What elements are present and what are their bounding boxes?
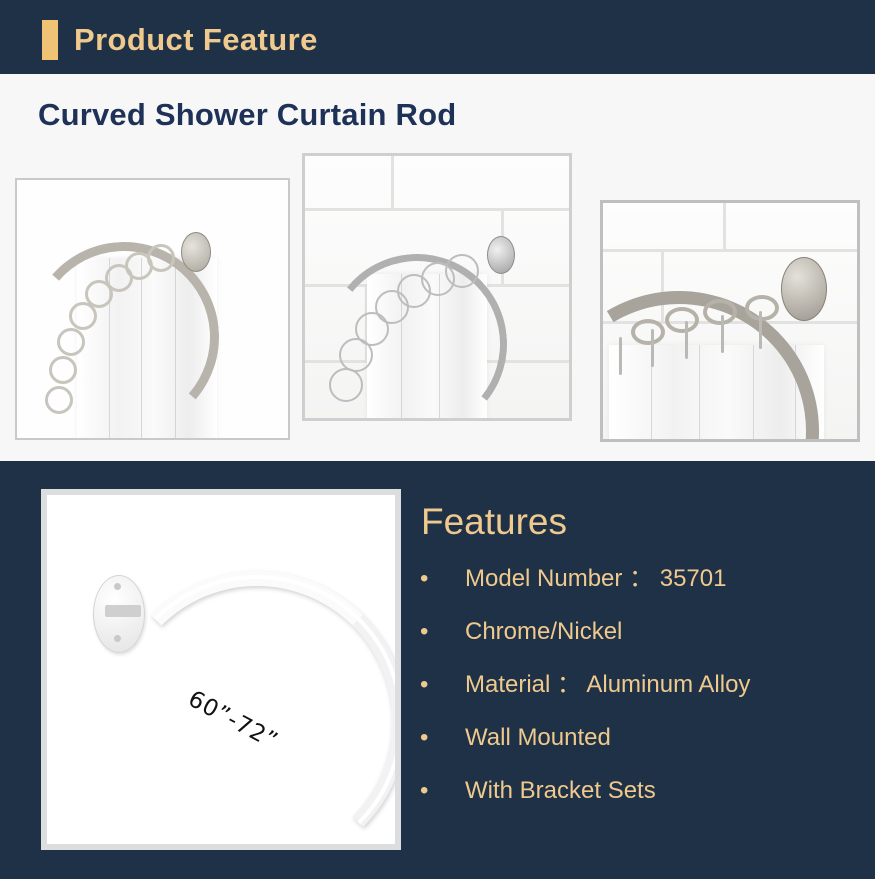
header-title: Product Feature [74, 19, 318, 61]
features-heading: Features [421, 499, 567, 545]
curtain-hook [685, 321, 688, 359]
feature-label: Wall Mounted [465, 711, 611, 764]
feature-label: Chrome/Nickel [465, 605, 622, 658]
hero-bracket-slot [105, 605, 141, 617]
photo-canvas [305, 156, 569, 418]
curtain-ring [69, 302, 97, 330]
bullet-icon: • [420, 764, 428, 817]
curtain-hook-ring [665, 307, 699, 333]
wall-flange [487, 236, 515, 274]
curtain-ring [329, 368, 363, 402]
hero-screw-hole-bottom [114, 635, 121, 642]
curtain-hook [721, 315, 724, 353]
curtain-hook-ring [631, 319, 665, 345]
feature-label: Material ： Aluminum Alloy [465, 658, 750, 711]
product-photo-rod-closeup[interactable] [600, 200, 860, 442]
curtain-hook-ring [703, 299, 737, 325]
hero-canvas [47, 495, 395, 844]
curtain-hook [651, 329, 654, 367]
curtain-ring [49, 356, 77, 384]
feature-label: Model Number ： 35701 [465, 552, 726, 605]
product-photo-chrome-rod-tile[interactable] [302, 153, 572, 421]
list-item: • Wall Mounted [415, 711, 865, 764]
product-photo-nickel-rod[interactable] [15, 178, 290, 440]
photo-canvas [603, 203, 857, 439]
header-band: Product Feature [0, 0, 875, 74]
list-item: • Model Number ： 35701 [415, 552, 865, 605]
list-item: • Material ： Aluminum Alloy [415, 658, 865, 711]
photo-canvas [17, 180, 288, 438]
hero-screw-hole-top [114, 583, 121, 590]
curtain-ring [339, 338, 373, 372]
hero-product-image[interactable] [41, 489, 401, 850]
list-item: • With Bracket Sets [415, 764, 865, 817]
list-item: • Chrome/Nickel [415, 605, 865, 658]
bullet-icon: • [420, 605, 428, 658]
feature-label: With Bracket Sets [465, 764, 656, 817]
curtain-hook [759, 311, 762, 349]
bullet-icon: • [420, 711, 428, 764]
page-title: Curved Shower Curtain Rod [38, 95, 456, 135]
product-feature-page: Product Feature Curved Shower Curtain Ro… [0, 0, 875, 879]
bullet-icon: • [420, 658, 428, 711]
curtain-hook [619, 337, 622, 375]
curtain-ring [45, 386, 73, 414]
bullet-icon: • [420, 552, 428, 605]
wall-flange [781, 257, 827, 321]
features-list: • Model Number ： 35701 • Chrome/Nickel •… [415, 552, 865, 817]
wall-flange [181, 232, 211, 272]
curtain-hook-ring [745, 295, 779, 321]
header-accent-bar-icon [42, 20, 58, 60]
curtain-ring [57, 328, 85, 356]
